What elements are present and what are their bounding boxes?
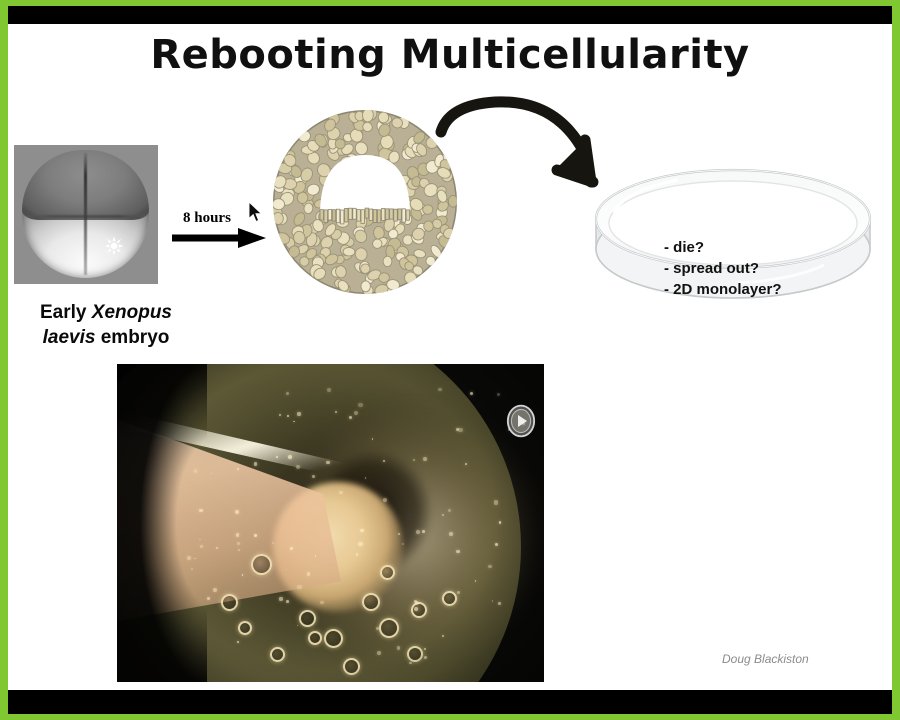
embryo-micrograph (14, 145, 158, 284)
slide-content-area: Rebooting Multicellularity (8, 24, 892, 690)
embryo-furrow-vertical (84, 153, 87, 275)
frame-border-left (0, 0, 8, 720)
letterbox-bar-bottom (8, 690, 892, 714)
video-credit: Doug Blackiston (722, 652, 809, 666)
species-genus: Xenopus (92, 302, 172, 323)
embryo-caption-line-2: laevis embryo (8, 325, 204, 350)
right-arrow-icon (172, 227, 268, 249)
species-epithet: laevis (43, 327, 96, 348)
dish-question-item: - spread out? (664, 258, 782, 279)
duration-label: 8 hours (183, 210, 231, 227)
frame-border-right (892, 0, 900, 720)
petri-dish: - die? - spread out? - 2D monolayer? (592, 161, 874, 321)
play-button-icon[interactable] (506, 404, 536, 438)
page-title: Rebooting Multicellularity (8, 32, 892, 78)
video-vignette (117, 364, 544, 682)
dish-question-list: - die? - spread out? - 2D monolayer? (664, 237, 782, 300)
letterbox-bar-top (8, 6, 892, 24)
embedded-video[interactable] (117, 364, 544, 682)
embryo-caption: Early Xenopus laevis embryo (8, 300, 204, 350)
frame-border-bottom (0, 714, 900, 720)
dish-question-item: - die? (664, 237, 782, 258)
embryo-caption-line-1: Early Xenopus (8, 300, 204, 325)
starburst-icon (105, 237, 123, 255)
mouse-pointer-icon (248, 201, 264, 223)
dish-question-item: - 2D monolayer? (664, 279, 782, 300)
slide-canvas: Rebooting Multicellularity (0, 0, 900, 720)
explant-micrograph (270, 105, 460, 297)
